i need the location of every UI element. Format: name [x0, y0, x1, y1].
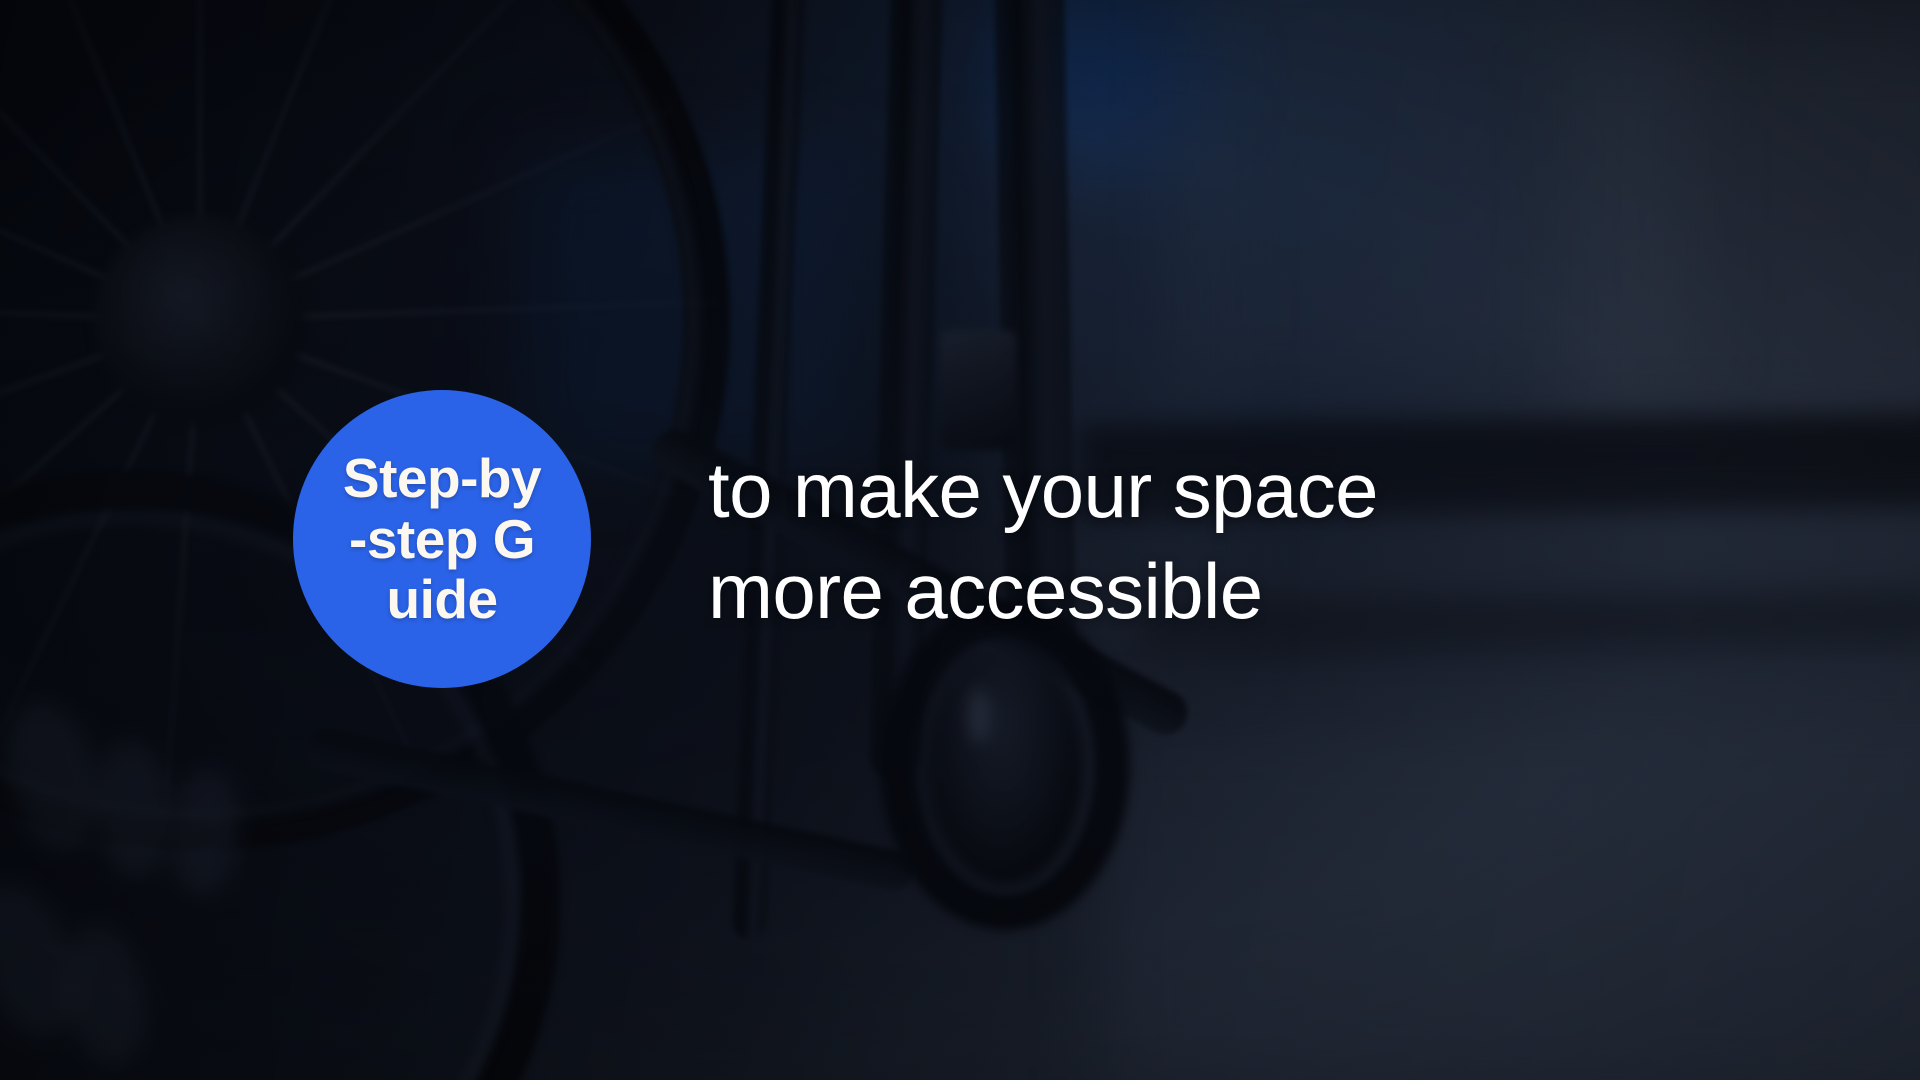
slide-canvas: Step-by-step Guide to make your space mo… — [0, 0, 1920, 1080]
step-by-step-guide-badge: Step-by-step Guide — [293, 390, 591, 688]
page-title: to make your space more accessible — [708, 440, 1838, 643]
headline-line-1: to make your space — [708, 440, 1838, 541]
slide-content: Step-by-step Guide to make your space mo… — [0, 0, 1920, 1080]
headline-line-2: more accessible — [708, 541, 1838, 642]
badge-label: Step-by-step Guide — [337, 448, 547, 630]
